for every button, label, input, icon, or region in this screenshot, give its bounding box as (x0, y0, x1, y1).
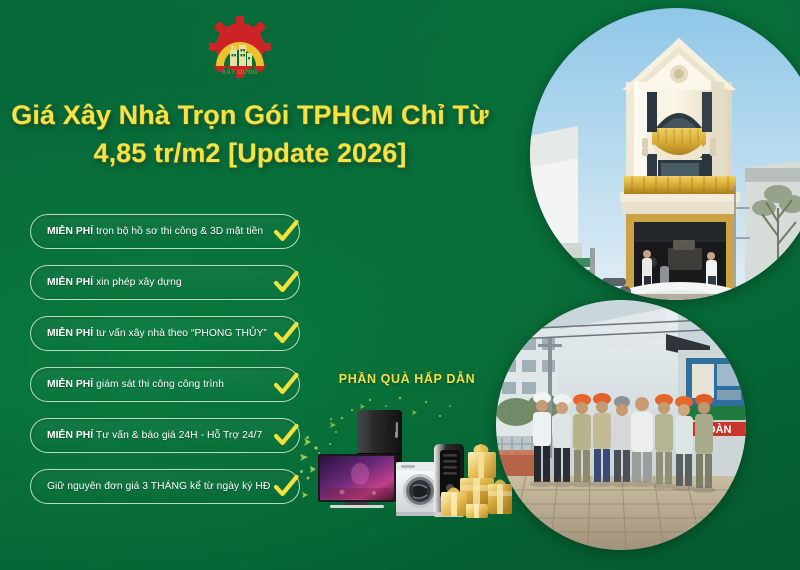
feature-strong: MIỄN PHÍ (47, 430, 93, 441)
feature-rest: giám sát thi công công trình (93, 379, 224, 390)
feature-rest: Giữ nguyên đơn giá 3 THÁNG kể từ ngày ký… (47, 481, 270, 492)
gift-section-title: PHẦN QUÀ HẤP DẪN (312, 372, 502, 386)
tv-icon (318, 454, 396, 508)
feature-strong: MIỄN PHÍ (47, 379, 93, 390)
sparkle-dot (306, 436, 309, 439)
house-sun-logo-icon (186, 14, 294, 90)
house-photo (530, 8, 800, 300)
feature-list: MIỄN PHÍ trọn bộ hồ sơ thi công & 3D mặt… (30, 214, 300, 504)
feature-text: MIỄN PHÍ giám sát thi công công trình (47, 379, 224, 391)
sparkle-dot (330, 418, 332, 420)
gift-products-illustration (300, 392, 515, 532)
feature-text: MIỄN PHÍ xin phép xây dựng (47, 277, 182, 289)
feature-rest: xin phép xây dựng (93, 277, 182, 288)
headline-line-2: 4,85 tr/m2 [Update 2026] (10, 134, 490, 172)
check-icon (271, 421, 301, 451)
feature-rest: tư vấn xây nhà theo “PHONG THỦY” (93, 328, 267, 339)
sparkle-dot (300, 470, 303, 473)
feature-rest: Tư vấn & báo giá 24H - Hỗ Trợ 24/7 (93, 430, 262, 441)
list-item[interactable]: MIỄN PHÍ tư vấn xây nhà theo “PHONG THỦY… (30, 316, 300, 351)
promo-poster: XÂY DỰNG Giá Xây Nhà Trọn Gói TPHCM Chỉ … (0, 0, 800, 570)
feature-text: Giữ nguyên đơn giá 3 THÁNG kể từ ngày ký… (47, 481, 270, 493)
sparkle-dot (318, 452, 320, 454)
team-photo: TOÀN (496, 300, 746, 550)
check-icon (271, 319, 301, 349)
check-icon (271, 268, 301, 298)
list-item[interactable]: MIỄN PHÍ trọn bộ hồ sơ thi công & 3D mặt… (30, 214, 300, 249)
list-item[interactable]: MIỄN PHÍ xin phép xây dựng (30, 265, 300, 300)
feature-strong: MIỄN PHÍ (47, 226, 93, 237)
headline-line-1: Giá Xây Nhà Trọn Gói TPHCM Chỉ Từ (10, 96, 490, 134)
feature-rest: trọn bộ hồ sơ thi công & 3D mặt tiền (93, 226, 263, 237)
feature-strong: MIỄN PHÍ (47, 277, 93, 288)
check-icon (271, 370, 301, 400)
list-item[interactable]: MIỄN PHÍ giám sát thi công công trình (30, 367, 300, 402)
feature-strong: MIỄN PHÍ (47, 328, 93, 339)
page-title: Giá Xây Nhà Trọn Gói TPHCM Chỉ Từ 4,85 t… (10, 96, 490, 172)
check-icon (271, 217, 301, 247)
feature-text: MIỄN PHÍ Tư vấn & báo giá 24H - Hỗ Trợ 2… (47, 430, 262, 442)
feature-text: MIỄN PHÍ tư vấn xây nhà theo “PHONG THỦY… (47, 328, 267, 340)
company-logo: XÂY DỰNG (186, 14, 294, 90)
check-icon (271, 472, 301, 502)
list-item[interactable]: Giữ nguyên đơn giá 3 THÁNG kể từ ngày ký… (30, 469, 300, 504)
feature-text: MIỄN PHÍ trọn bộ hồ sơ thi công & 3D mặt… (47, 226, 263, 238)
logo-caption: XÂY DỰNG (186, 70, 294, 77)
list-item[interactable]: MIỄN PHÍ Tư vấn & báo giá 24H - Hỗ Trợ 2… (30, 418, 300, 453)
